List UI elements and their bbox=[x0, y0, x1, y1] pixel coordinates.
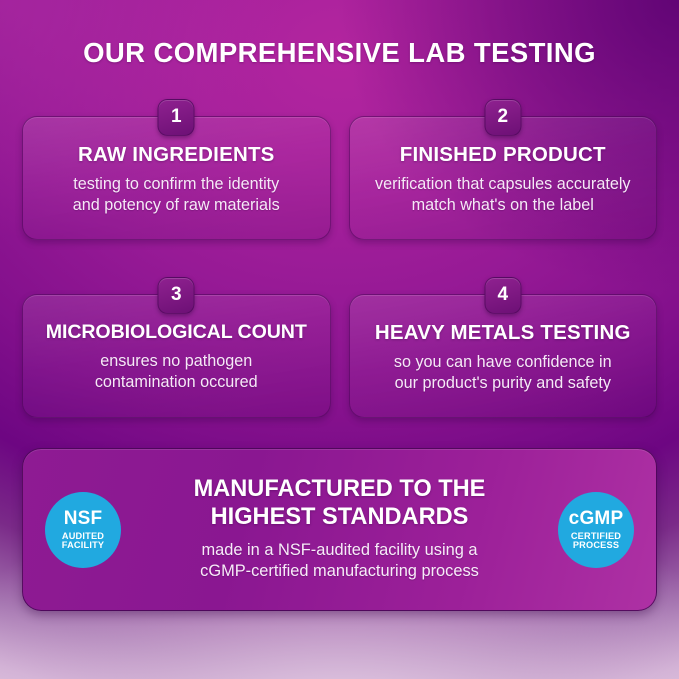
banner-description: made in a NSF-audited facility using a c… bbox=[125, 540, 554, 584]
cgmp-seal-subtitle: CERTIFIED PROCESS bbox=[571, 532, 621, 551]
card-description-2: verification that capsules accurately ma… bbox=[364, 174, 643, 217]
step-number-badge-1: 1 bbox=[158, 99, 195, 136]
card-description-3: ensures no pathogen contamination occure… bbox=[37, 351, 316, 394]
step-number-badge-2: 2 bbox=[484, 99, 521, 136]
card-title-2: FINISHED PRODUCT bbox=[364, 143, 643, 167]
card-description-1: testing to confirm the identity and pote… bbox=[37, 174, 316, 217]
card-title-3: MICROBIOLOGICAL COUNT bbox=[37, 321, 316, 344]
step-number-badge-3: 3 bbox=[158, 277, 195, 314]
page-title: OUR COMPREHENSIVE LAB TESTING bbox=[22, 0, 657, 68]
cgmp-seal-title: cGMP bbox=[569, 509, 624, 529]
lab-testing-infographic: OUR COMPREHENSIVE LAB TESTING 1 RAW INGR… bbox=[0, 0, 679, 679]
testing-card-1: 1 RAW INGREDIENTS testing to confirm the… bbox=[22, 99, 331, 240]
testing-card-2: 2 FINISHED PRODUCT verification that cap… bbox=[349, 99, 658, 240]
card-description-4: so you can have confidence in our produc… bbox=[364, 352, 643, 395]
testing-card-4: 4 HEAVY METALS TESTING so you can have c… bbox=[349, 277, 658, 418]
cgmp-seal-icon: cGMP CERTIFIED PROCESS bbox=[558, 492, 634, 568]
banner-text-block: MANUFACTURED TO THE HIGHEST STANDARDS ma… bbox=[121, 476, 558, 583]
banner-title: MANUFACTURED TO THE HIGHEST STANDARDS bbox=[125, 476, 554, 531]
testing-card-3: 3 MICROBIOLOGICAL COUNT ensures no patho… bbox=[22, 277, 331, 418]
card-title-1: RAW INGREDIENTS bbox=[37, 143, 316, 167]
step-number-badge-4: 4 bbox=[484, 277, 521, 314]
nsf-seal-subtitle: AUDITED FACILITY bbox=[62, 532, 104, 551]
manufacturing-banner: NSF AUDITED FACILITY MANUFACTURED TO THE… bbox=[22, 448, 657, 611]
nsf-seal-title: NSF bbox=[64, 509, 103, 529]
testing-cards-grid: 1 RAW INGREDIENTS testing to confirm the… bbox=[22, 99, 657, 418]
card-title-4: HEAVY METALS TESTING bbox=[364, 321, 643, 345]
nsf-seal-icon: NSF AUDITED FACILITY bbox=[45, 492, 121, 568]
